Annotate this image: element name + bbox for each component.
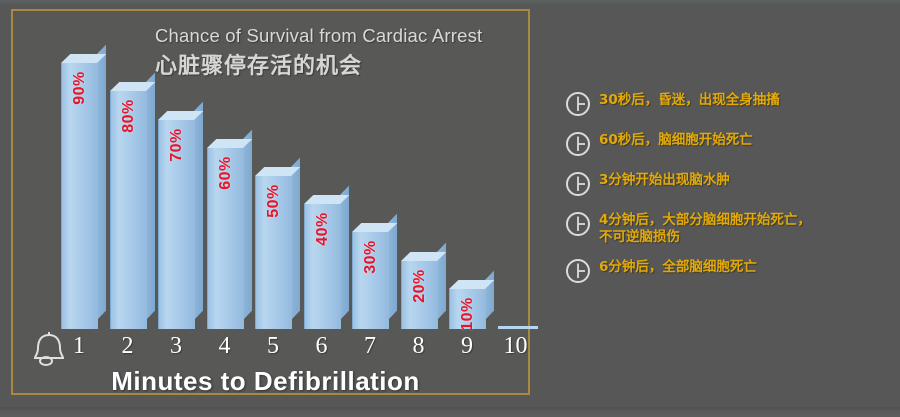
clock-icon — [563, 89, 593, 119]
info-list-item-text: 60秒后，脑细胞开始死亡 — [599, 128, 753, 149]
chart-panel: Chance of Survival from Cardiac Arrest 心… — [11, 9, 530, 395]
bar-body: 20% — [401, 261, 437, 329]
bar-body: 80% — [110, 91, 146, 329]
bar-side-face — [243, 130, 252, 320]
info-list-item-text: 3分钟开始出现脑水肿 — [599, 168, 730, 189]
x-tick-6: 6 — [300, 333, 344, 360]
bar-value-label: 90% — [71, 71, 89, 105]
x-tick-2: 2 — [106, 333, 150, 360]
top-band — [0, 0, 900, 7]
bar-value-label: 20% — [411, 269, 429, 303]
bar-front-face: 60% — [207, 148, 244, 329]
info-list-item-text: 30秒后，昏迷，出现全身抽搐 — [599, 88, 780, 109]
bar-side-face — [194, 102, 203, 320]
bar-body: 10% — [449, 289, 485, 329]
x-axis-caption: Minutes to Defibrillation — [13, 366, 518, 397]
bar-side-face — [97, 45, 106, 320]
info-list-item: 4分钟后，大部分脑细胞开始死亡， 不可逆脑损伤 — [563, 208, 893, 246]
bar-plot-area: 90%80%70%60%50%40%30%20%10% — [19, 29, 524, 329]
bar-front-face: 20% — [401, 261, 438, 329]
bar-front-face: 10% — [449, 289, 486, 329]
info-list-item: 30秒后，昏迷，出现全身抽搐 — [563, 88, 893, 119]
bar-body: 30% — [352, 232, 388, 329]
info-list-item-text: 4分钟后，大部分脑细胞开始死亡， 不可逆脑损伤 — [599, 208, 811, 246]
x-tick-5: 5 — [251, 333, 295, 360]
bar-front-face: 40% — [304, 204, 341, 329]
bar-body: 90% — [61, 63, 97, 329]
bar-body: 50% — [255, 176, 291, 329]
bar-value-label: 10% — [459, 297, 477, 331]
bar-side-face — [146, 73, 155, 320]
info-list: 30秒后，昏迷，出现全身抽搐60秒后，脑细胞开始死亡3分钟开始出现脑水肿4分钟后… — [563, 88, 893, 295]
x-tick-8: 8 — [397, 333, 441, 360]
clock-icon — [563, 256, 593, 286]
clock-icon — [563, 209, 593, 239]
info-list-item-text: 6分钟后，全部脑细胞死亡 — [599, 255, 757, 276]
bar-body: 60% — [207, 148, 243, 329]
clock-icon — [563, 129, 593, 159]
bar-value-label: 60% — [217, 156, 235, 190]
x-tick-4: 4 — [203, 333, 247, 360]
info-list-item: 3分钟开始出现脑水肿 — [563, 168, 893, 199]
x-tick-7: 7 — [348, 333, 392, 360]
bar-front-face: 80% — [110, 91, 147, 329]
x-tick-9: 9 — [445, 333, 489, 360]
bar-value-label: 30% — [362, 240, 380, 274]
bar-value-label: 50% — [265, 184, 283, 218]
x-tick-3: 3 — [154, 333, 198, 360]
x-tick-10: 10 — [494, 333, 538, 360]
bar-front-face: 30% — [352, 232, 389, 329]
bar-body: 40% — [304, 204, 340, 329]
bar-front-face: 50% — [255, 176, 292, 329]
bottom-band — [0, 407, 900, 417]
info-list-item: 6分钟后，全部脑细胞死亡 — [563, 255, 893, 286]
bell-icon — [27, 329, 71, 369]
bar-side-face — [291, 158, 300, 320]
bar-side-face — [340, 186, 349, 320]
bar-zero-marker — [498, 326, 538, 329]
bar-front-face: 90% — [61, 63, 98, 329]
bar-body: 70% — [158, 120, 194, 329]
info-list-item: 60秒后，脑细胞开始死亡 — [563, 128, 893, 159]
bar-front-face: 70% — [158, 120, 195, 329]
x-axis-ticks: 12345678910 — [19, 333, 524, 367]
bar-value-label: 40% — [314, 212, 332, 246]
bar-side-face — [485, 271, 494, 320]
bar-value-label: 80% — [120, 99, 138, 133]
bar-value-label: 70% — [168, 128, 186, 162]
clock-icon — [563, 169, 593, 199]
